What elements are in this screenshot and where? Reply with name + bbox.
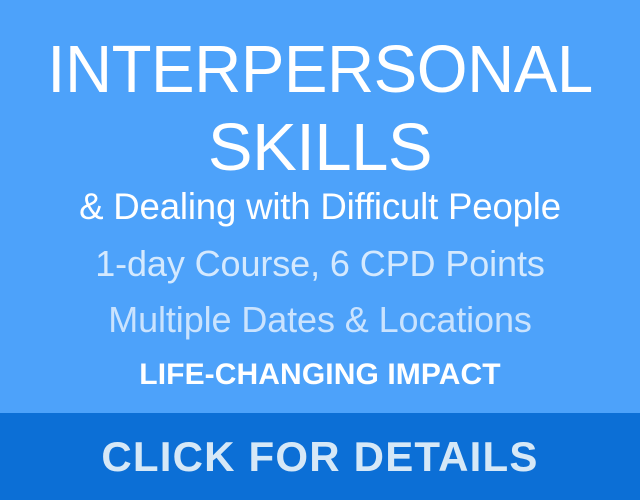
- cta-label: CLICK FOR DETAILS: [101, 436, 538, 478]
- banner-subheading: & Dealing with Difficult People: [3, 188, 637, 225]
- headline-line-1: INTERPERSONAL: [8, 36, 632, 103]
- course-format-text: 1-day Course, 6 CPD Points: [0, 246, 640, 282]
- cta-bar[interactable]: CLICK FOR DETAILS: [0, 413, 640, 500]
- availability-text: Multiple Dates & Locations: [0, 302, 640, 338]
- headline-line-2: SKILLS: [0, 114, 640, 181]
- banner-message-block: INTERPERSONAL SKILLS & Dealing with Diff…: [0, 0, 640, 413]
- banner-tagline: LIFE-CHANGING IMPACT: [0, 360, 640, 390]
- advertisement-banner[interactable]: INTERPERSONAL SKILLS & Dealing with Diff…: [0, 0, 640, 500]
